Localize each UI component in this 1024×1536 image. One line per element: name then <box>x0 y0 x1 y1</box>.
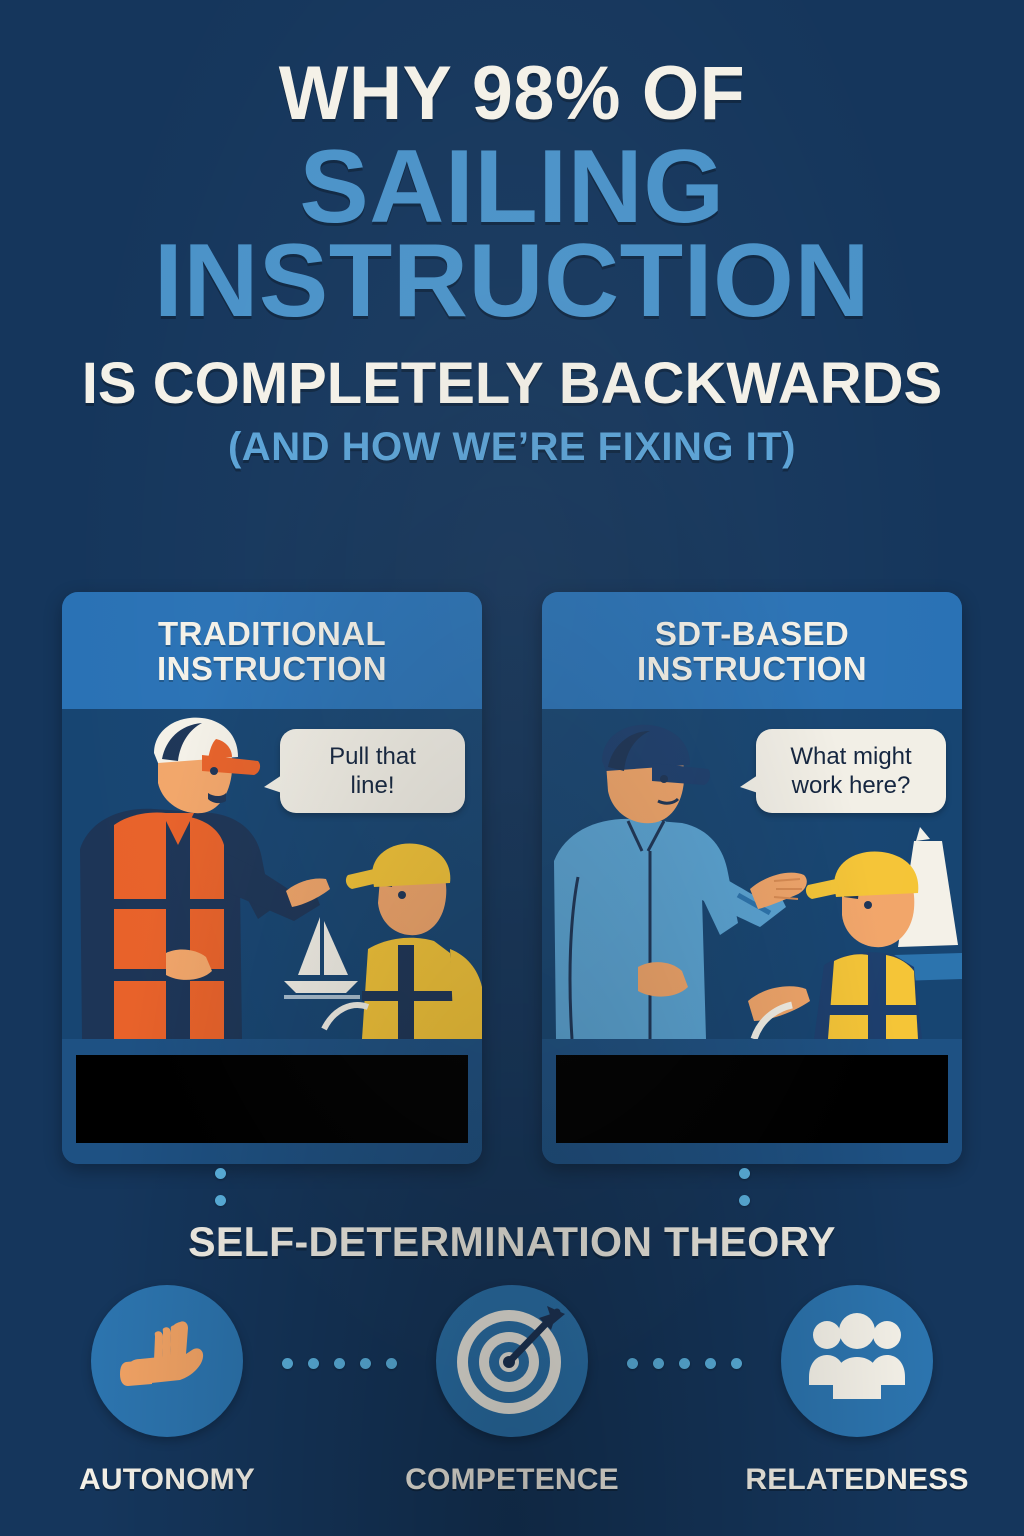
hand-arm-icon <box>112 1306 222 1416</box>
connector-right <box>524 1168 964 1206</box>
connector-dot <box>739 1195 750 1206</box>
pillar-autonomy: AUTONOMY <box>60 1285 275 1497</box>
connector-dot <box>705 1358 716 1369</box>
headline-line-4: IS COMPLETELY BACKWARDS <box>0 357 1024 412</box>
connector-dot <box>360 1358 371 1369</box>
connector-dot <box>679 1358 690 1369</box>
card-sdt-illustration: What might work here? <box>542 709 962 1039</box>
connector-dot <box>386 1358 397 1369</box>
speech-bubble-traditional: Pull that line! <box>280 729 465 814</box>
pillar-competence-label: COMPETENCE <box>405 1463 619 1497</box>
speech-bubble-sdt-line2: work here? <box>772 771 930 800</box>
pillar-connector-1 <box>275 1358 405 1369</box>
pillar-relatedness: RELATEDNESS <box>750 1285 965 1497</box>
card-traditional-caption-redacted <box>76 1055 468 1143</box>
connector-dot <box>215 1168 226 1179</box>
connector-dot <box>653 1358 664 1369</box>
card-sdt-header: SDT-BASED INSTRUCTION <box>542 592 962 709</box>
competence-icon-circle <box>436 1285 588 1437</box>
three-people-group-icon <box>805 1309 909 1413</box>
sdt-pillars: AUTONOMY COMPETENCE <box>0 1285 1024 1497</box>
headline-line-1: WHY 98% OF <box>15 58 1008 129</box>
headline-block: WHY 98% OF SAILING INSTRUCTION IS COMPLE… <box>0 0 1024 467</box>
card-connectors <box>0 1168 1024 1224</box>
target-bullseye-arrow-icon <box>453 1302 571 1420</box>
card-sdt-caption-redacted <box>556 1055 948 1143</box>
connector-dot <box>739 1168 750 1179</box>
card-sdt-title-line2: INSTRUCTION <box>552 651 952 686</box>
headline-subtitle: (AND HOW WE’RE FIXING IT) <box>0 429 1024 467</box>
speech-bubble-traditional-line2: line! <box>296 771 449 800</box>
speech-bubble-sdt: What might work here? <box>756 729 946 814</box>
autonomy-icon-circle <box>91 1285 243 1437</box>
comparison-cards: TRADITIONAL INSTRUCTION <box>62 592 962 1164</box>
pillar-competence: COMPETENCE <box>405 1285 620 1497</box>
connector-dot <box>308 1358 319 1369</box>
card-traditional-header: TRADITIONAL INSTRUCTION <box>62 592 482 709</box>
pillar-relatedness-label: RELATEDNESS <box>745 1463 968 1497</box>
card-sdt-title-line1: SDT-BASED <box>552 616 952 651</box>
card-traditional-footer <box>62 1039 482 1164</box>
card-traditional-title-line1: TRADITIONAL <box>72 616 472 651</box>
card-traditional-illustration: Pull that line! <box>62 709 482 1039</box>
connector-dot <box>334 1358 345 1369</box>
speech-bubble-sdt-line1: What might <box>772 742 930 771</box>
relatedness-icon-circle <box>781 1285 933 1437</box>
connector-dot <box>282 1358 293 1369</box>
card-traditional-title-line2: INSTRUCTION <box>72 651 472 686</box>
card-sdt-footer <box>542 1039 962 1164</box>
headline-line-3: INSTRUCTION <box>0 233 1024 331</box>
connector-dot <box>627 1358 638 1369</box>
pillar-connector-2 <box>620 1358 750 1369</box>
speech-bubble-traditional-line1: Pull that <box>296 742 449 771</box>
pillar-autonomy-label: AUTONOMY <box>79 1463 255 1497</box>
connector-dot <box>215 1195 226 1206</box>
card-traditional-instruction: TRADITIONAL INSTRUCTION <box>62 592 482 1164</box>
connector-left <box>0 1168 440 1206</box>
sdt-section-title: SELF-DETERMINATION THEORY <box>10 1218 1014 1266</box>
card-sdt-instruction: SDT-BASED INSTRUCTION <box>542 592 962 1164</box>
connector-dot <box>731 1358 742 1369</box>
